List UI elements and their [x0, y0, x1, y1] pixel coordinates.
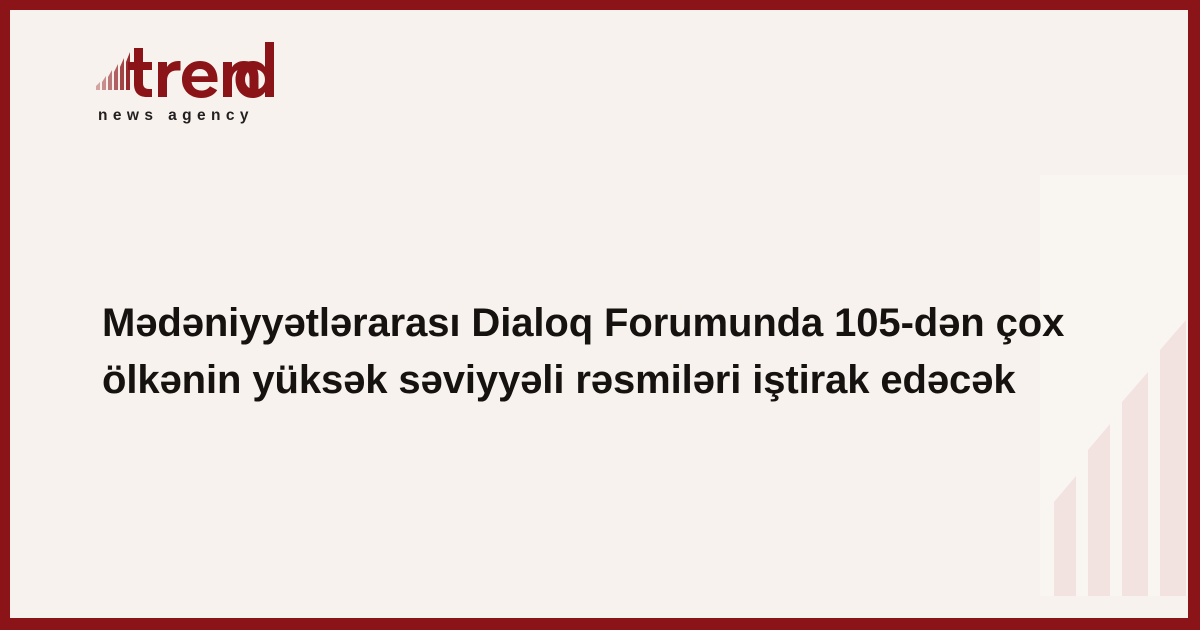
decor-backdrop-panel — [1040, 175, 1188, 596]
decor-bar-3 — [1122, 372, 1148, 596]
brand-logo[interactable]: news agency — [94, 42, 394, 142]
card-canvas: news agency Mədəniyyətlərarası Dialoq Fo… — [10, 10, 1188, 618]
headline-line-2: ölkənin yüksək səviyyəli rəsmiləri iştir… — [102, 352, 1032, 409]
trend-letters-icon — [128, 42, 274, 98]
headline-line-1: Mədəniyyətlərarası Dialoq Forumunda 105-… — [102, 295, 1032, 352]
trend-wordmark-icon — [94, 42, 274, 104]
decor-bar-4 — [1160, 320, 1186, 596]
decorative-ascending-bars — [1030, 175, 1188, 596]
ascending-bars-icon — [96, 52, 130, 90]
social-share-card: news agency Mədəniyyətlərarası Dialoq Fo… — [0, 0, 1200, 630]
brand-tagline: news agency — [98, 108, 254, 124]
trend-logo-svg — [94, 42, 274, 104]
decor-bar-2 — [1088, 424, 1110, 596]
decor-bar-1 — [1054, 476, 1076, 596]
page-title: Mədəniyyətlərarası Dialoq Forumunda 105-… — [102, 295, 1032, 409]
